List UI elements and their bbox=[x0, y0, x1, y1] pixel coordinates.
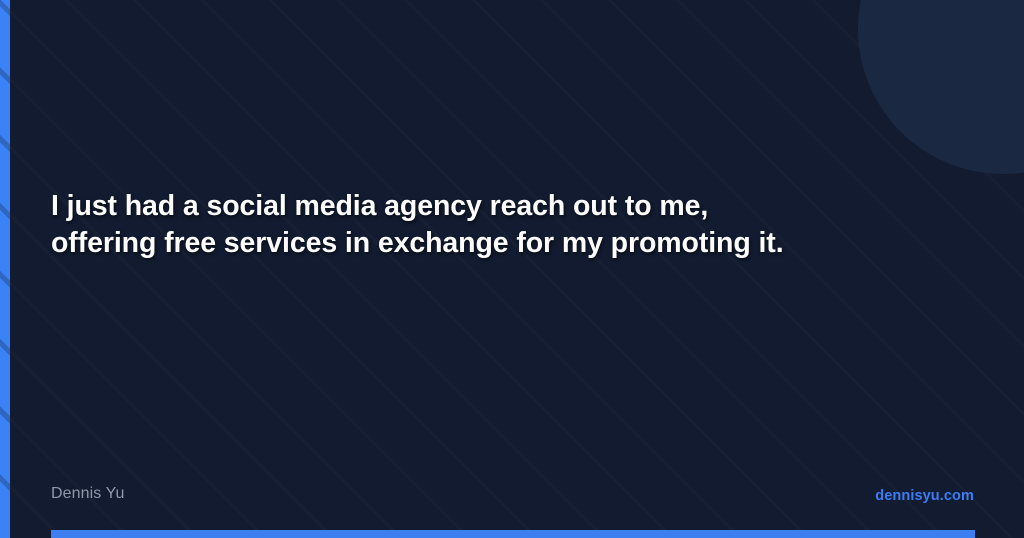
website-link[interactable]: dennisyu.com bbox=[875, 488, 974, 504]
headline-line-2: offering free services in exchange for m… bbox=[51, 225, 951, 262]
headline-block: I just had a social media agency reach o… bbox=[51, 188, 951, 262]
left-accent-stripe bbox=[0, 0, 10, 538]
top-right-circle-decoration bbox=[858, 0, 1024, 174]
author-name: Dennis Yu bbox=[51, 485, 125, 503]
headline-line-1: I just had a social media agency reach o… bbox=[51, 188, 951, 225]
quote-slide: I just had a social media agency reach o… bbox=[0, 0, 1024, 538]
bottom-accent-bar bbox=[51, 530, 975, 538]
